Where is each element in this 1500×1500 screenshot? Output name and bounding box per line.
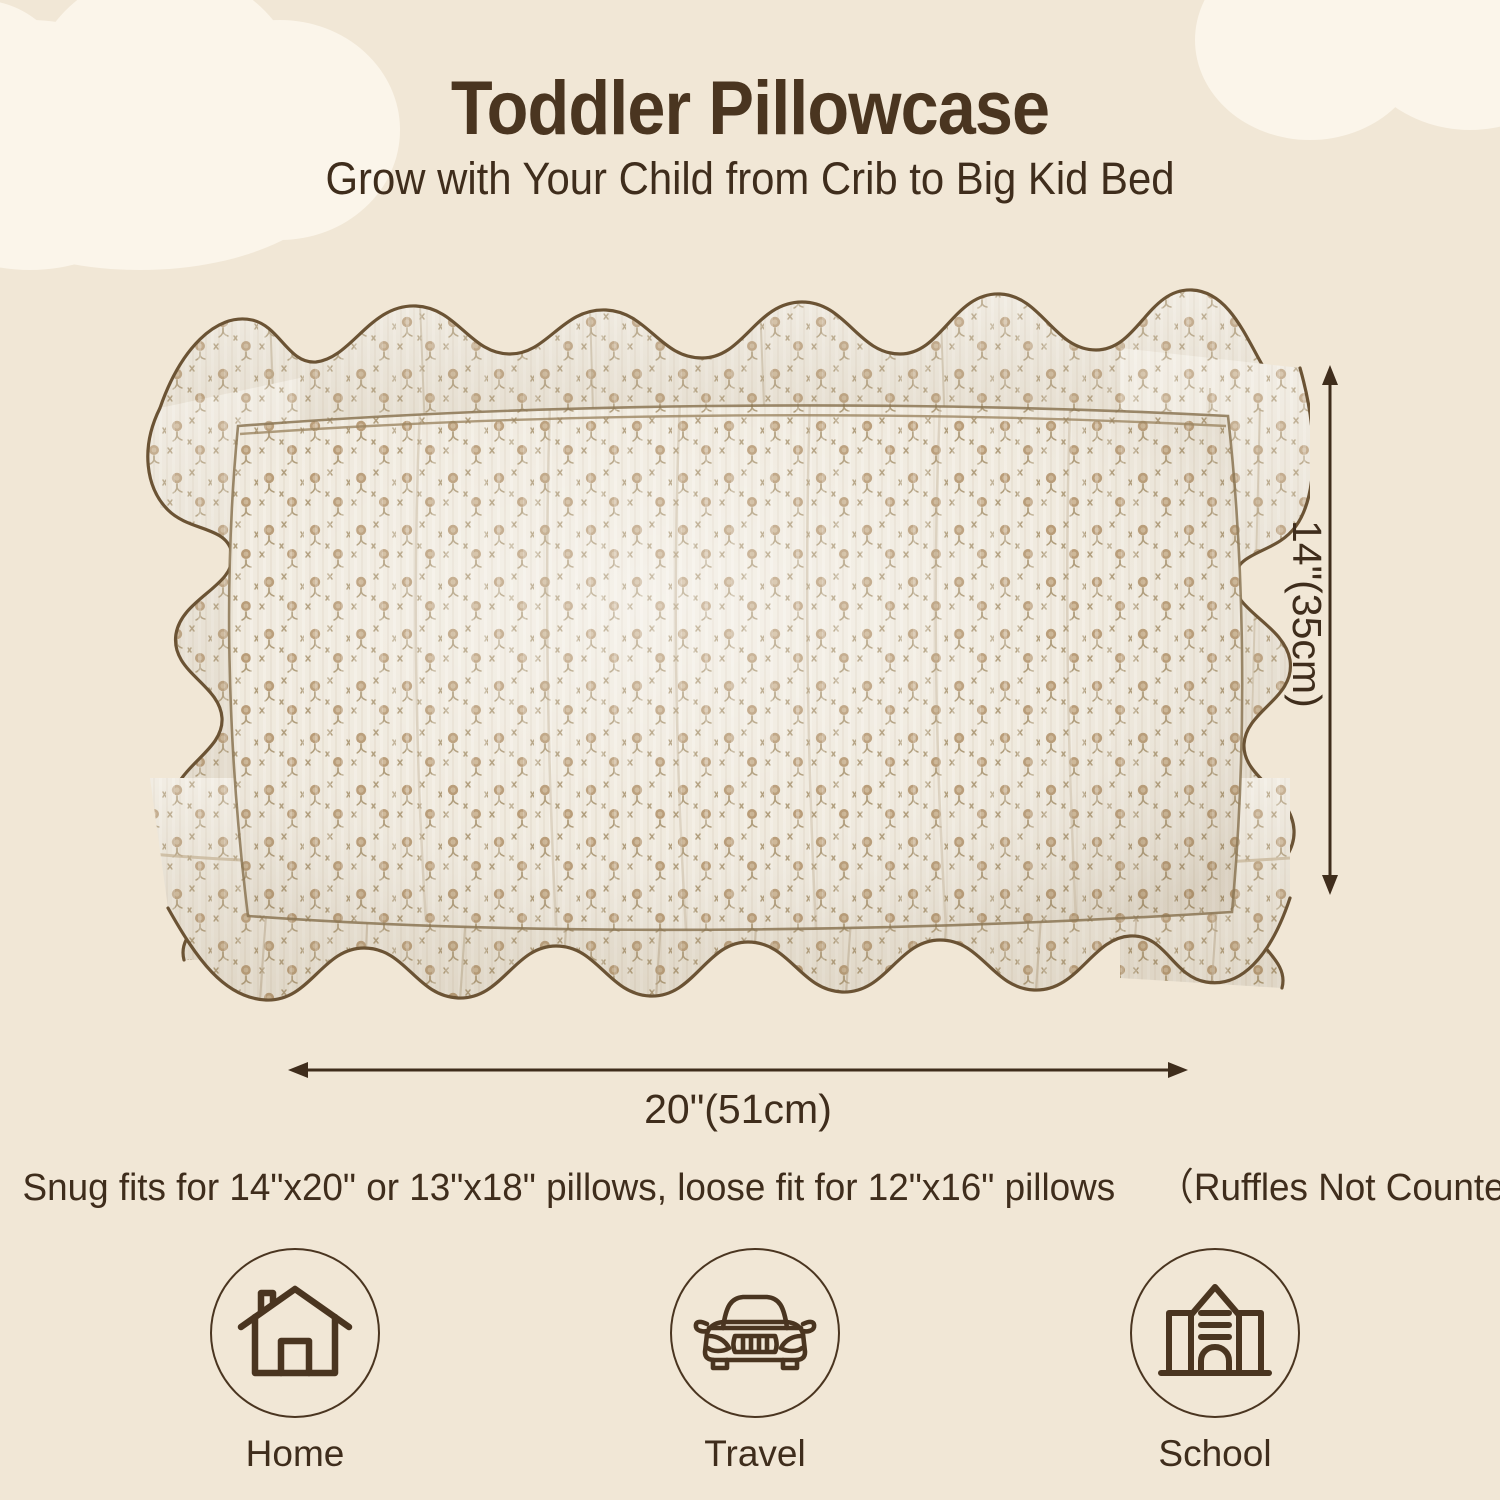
page-title: Toddler Pillowcase xyxy=(75,68,1425,150)
usecase-label-school: School xyxy=(1158,1432,1271,1476)
usecase-label-home: Home xyxy=(246,1432,345,1476)
product-image xyxy=(120,258,1310,1020)
width-dimension-arrow xyxy=(288,1058,1188,1082)
usecase-ring-home xyxy=(210,1248,380,1418)
school-icon xyxy=(1157,1281,1273,1385)
width-dimension-label: 20"(51cm) xyxy=(0,1086,1488,1133)
usecase-ring-school xyxy=(1130,1248,1300,1418)
pillow-front-face xyxy=(210,388,1270,948)
usecase-list: Home xyxy=(130,1248,1380,1493)
usecase-school: School xyxy=(1050,1248,1380,1476)
usecase-travel: Travel xyxy=(590,1248,920,1476)
house-icon xyxy=(237,1283,353,1383)
usecase-ring-travel xyxy=(670,1248,840,1418)
height-dimension-label: 14"(35cm) xyxy=(1283,520,1330,708)
usecase-home: Home xyxy=(130,1248,460,1476)
page-subtitle: Grow with Your Child from Crib to Big Ki… xyxy=(53,152,1448,206)
fit-note: Snug fits for 14"x20" or 13"x18" pillows… xyxy=(23,1165,1478,1211)
usecase-label-travel: Travel xyxy=(704,1432,805,1476)
fit-note-parenthetical: （Ruffles Not Counted） xyxy=(1157,1167,1500,1209)
car-icon xyxy=(693,1290,817,1376)
fit-note-main: Snug fits for 14"x20" or 13"x18" pillows… xyxy=(23,1167,1116,1209)
pillowcase-illustration xyxy=(120,258,1310,1020)
infographic-canvas: Toddler Pillowcase Grow with Your Child … xyxy=(0,0,1500,1500)
